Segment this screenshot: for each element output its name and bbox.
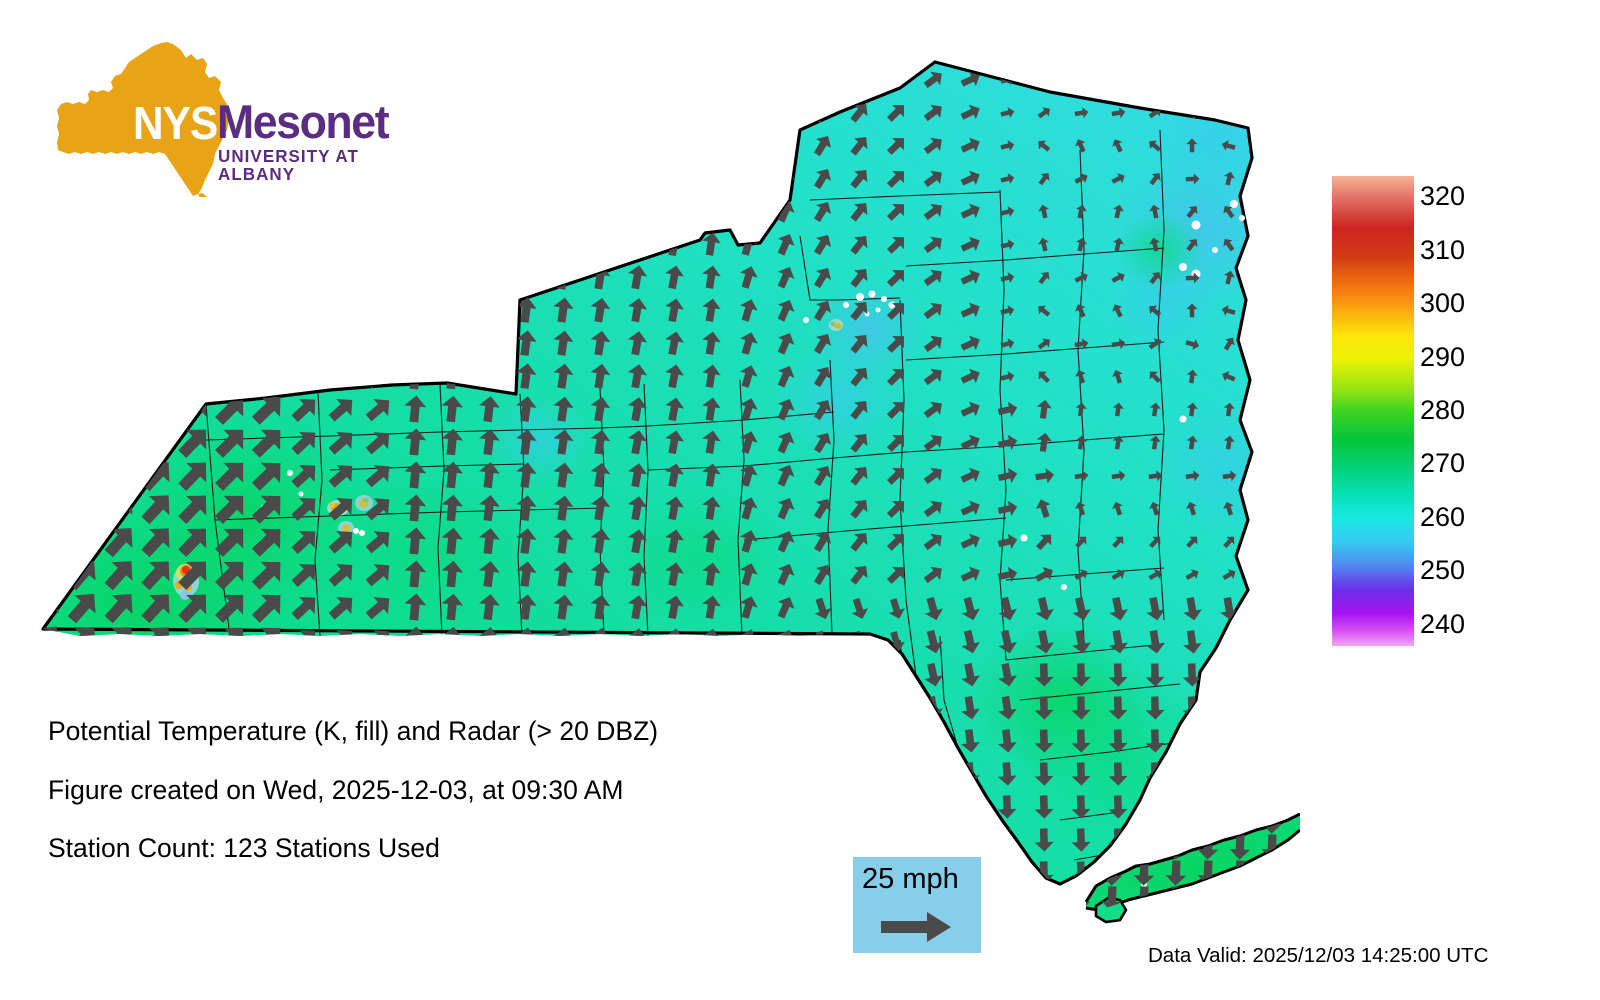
wind-arrow — [1258, 203, 1275, 220]
wind-arrow — [246, 222, 290, 266]
wind-arrow — [98, 321, 142, 365]
wind-arrow — [24, 288, 67, 332]
wind-arrow — [1260, 402, 1273, 417]
wind-arrow — [1182, 762, 1202, 786]
wind-arrow — [61, 90, 104, 134]
wind-arrow — [361, 95, 396, 129]
wind-arrow — [246, 288, 290, 332]
wind-arrow — [1258, 105, 1276, 122]
wind-arrow — [135, 57, 179, 101]
wind-arrow — [24, 552, 67, 596]
wind-arrow — [61, 354, 104, 398]
wind-arrow — [551, 131, 575, 158]
wind-arrow — [1219, 696, 1239, 720]
wind-arrow — [886, 696, 906, 719]
wind-arrow — [477, 659, 501, 687]
caption-station-count: Station Count: 123 Stations Used — [48, 835, 868, 862]
wind-arrow — [1258, 500, 1273, 516]
wind-arrow — [324, 326, 360, 361]
wind-arrow — [1220, 72, 1237, 88]
wind-arrow — [246, 156, 290, 200]
wind-arrow — [1258, 71, 1274, 88]
colorbar-gradient — [1332, 176, 1414, 646]
caption-created: Figure created on Wed, 2025-12-03, at 09… — [48, 777, 868, 804]
wind-arrow — [24, 156, 67, 200]
wind-arrow — [209, 123, 253, 167]
wind-arrow — [98, 255, 142, 299]
wind-arrow — [886, 663, 907, 687]
wind-arrow — [477, 230, 501, 258]
wind-arrow — [663, 132, 686, 158]
wind-arrow — [626, 165, 649, 192]
wind-arrow — [24, 321, 67, 365]
wind-arrow — [24, 57, 67, 101]
wind-arrow — [1069, 912, 1091, 938]
wind-arrow — [135, 189, 179, 233]
wind-arrow — [773, 131, 798, 158]
wind-arrow — [551, 197, 575, 224]
wind-arrow — [1258, 533, 1275, 551]
wind-arrow — [1261, 912, 1283, 938]
wind-arrow — [24, 90, 67, 134]
wind-arrow — [1256, 729, 1276, 753]
wind-arrow — [440, 659, 464, 687]
wind-arrow — [287, 325, 323, 361]
wind-arrow — [1256, 795, 1276, 819]
wind-arrow — [1182, 795, 1202, 819]
wind-arrow — [1219, 729, 1239, 753]
wind-arrow — [61, 123, 104, 167]
wind-arrow — [98, 651, 142, 695]
wind-arrow — [324, 260, 360, 295]
wind-arrow — [135, 123, 179, 167]
wind-arrow — [324, 161, 360, 196]
wind-arrow — [24, 420, 67, 464]
wind-arrow — [361, 293, 396, 327]
wind-arrow — [324, 128, 360, 163]
wind-arrow — [1073, 71, 1088, 87]
wind-arrow — [287, 358, 323, 394]
wind-arrow — [24, 519, 67, 563]
wind-arrow — [773, 692, 798, 719]
wind-arrow — [1165, 808, 1187, 834]
wind-arrow — [1261, 860, 1283, 886]
wind-arrow — [361, 260, 396, 294]
wind-arrow — [514, 263, 538, 291]
wind-arrow — [1197, 912, 1219, 938]
wind-arrow — [287, 61, 323, 97]
wind-arrow — [588, 230, 611, 257]
wind-arrow — [324, 62, 360, 97]
wind-arrow — [700, 99, 722, 125]
wind-key-arrow-icon — [881, 911, 953, 943]
wind-arrow — [24, 123, 67, 167]
wind-arrow — [209, 57, 253, 101]
colorbar-tick-300: 300 — [1420, 290, 1465, 317]
wind-arrow — [403, 196, 427, 225]
wind-arrow — [923, 828, 943, 852]
wind-arrow — [440, 98, 464, 126]
wind-arrow — [551, 164, 575, 191]
wind-arrow — [24, 453, 67, 497]
wind-arrow — [361, 656, 396, 690]
wind-arrow — [24, 354, 67, 398]
wind-arrow — [923, 795, 943, 819]
wind-arrow — [287, 94, 323, 130]
wind-arrow — [1133, 912, 1155, 938]
wind-arrow — [1219, 762, 1239, 786]
wind-arrow — [209, 90, 253, 134]
wind-arrow — [551, 659, 575, 686]
wind-speed-legend: 25 mph — [853, 857, 981, 953]
wind-arrow — [98, 420, 142, 464]
wind-arrow — [588, 659, 611, 686]
wind-arrow — [61, 222, 104, 266]
wind-arrow — [172, 288, 216, 332]
wind-arrow — [324, 656, 360, 691]
wind-arrow — [61, 255, 104, 299]
colorbar-tick-240: 240 — [1420, 611, 1465, 638]
wind-arrow — [626, 132, 649, 159]
wind-arrow — [172, 651, 216, 695]
wind-arrow — [700, 660, 722, 686]
wind-arrow — [209, 255, 253, 299]
colorbar-tick-310: 310 — [1420, 237, 1465, 264]
wind-arrow — [98, 156, 142, 200]
wind-arrow — [403, 97, 427, 126]
wind-arrow — [135, 321, 179, 365]
wind-arrow — [209, 222, 253, 266]
wind-arrow — [246, 255, 290, 299]
wind-arrow — [440, 230, 464, 258]
wind-arrow — [887, 796, 905, 818]
wind-arrow — [1261, 886, 1283, 912]
wind-arrow — [246, 57, 290, 101]
wind-arrow — [98, 288, 142, 332]
wind-arrow — [61, 57, 104, 101]
wind-arrow — [1186, 72, 1199, 87]
wind-arrow — [172, 222, 216, 266]
wind-arrow — [626, 99, 649, 126]
wind-arrow — [98, 57, 142, 101]
wind-arrow — [135, 651, 179, 695]
wind-arrow — [98, 222, 142, 266]
wind-arrow — [700, 66, 722, 92]
wind-arrow — [887, 829, 905, 850]
data-valid-timestamp: Data Valid: 2025/12/03 14:25:00 UTC — [1148, 946, 1488, 967]
wind-arrow — [1260, 435, 1273, 450]
wind-arrow — [172, 156, 216, 200]
wind-arrow — [440, 164, 464, 192]
wind-arrow — [1229, 808, 1251, 834]
wind-arrow — [1258, 336, 1276, 353]
wind-arrow — [1146, 71, 1163, 89]
wind-arrow — [1035, 71, 1053, 89]
wind-arrow — [98, 354, 142, 398]
wind-arrow — [626, 231, 649, 258]
wind-arrow — [403, 658, 427, 687]
colorbar-tick-labels: 320310300290280270260250240 — [1420, 176, 1560, 646]
wind-arrow — [246, 90, 290, 134]
wind-arrow — [403, 229, 427, 258]
wind-arrow — [1258, 236, 1275, 253]
wind-arrow — [24, 651, 67, 695]
wind-arrow — [886, 729, 906, 752]
wind-arrow — [477, 98, 501, 126]
wind-arrow — [61, 288, 104, 332]
wind-arrow — [736, 165, 760, 192]
wind-arrow — [1258, 566, 1275, 582]
wind-arrow — [848, 663, 870, 687]
wind-arrow — [287, 160, 323, 196]
wind-arrow — [811, 696, 833, 721]
wind-arrow — [135, 387, 179, 431]
wind-arrow — [1182, 729, 1202, 753]
wind-arrow — [135, 90, 179, 134]
wind-arrow — [361, 194, 396, 228]
wind-arrow — [209, 156, 253, 200]
wind-arrow — [172, 90, 216, 134]
wind-arrow — [700, 132, 722, 158]
wind-arrow — [477, 263, 501, 291]
wind-arrow — [98, 123, 142, 167]
wind-arrow — [1259, 302, 1274, 319]
wind-arrow — [1197, 808, 1219, 834]
wind-arrow — [626, 660, 649, 687]
wind-arrow — [773, 65, 798, 92]
wind-arrow — [663, 165, 686, 191]
wind-arrow — [663, 198, 686, 224]
wind-arrow — [514, 197, 538, 225]
wind-arrow — [287, 259, 323, 295]
wind-arrow — [61, 651, 104, 695]
wind-arrow — [1221, 104, 1238, 121]
wind-arrow — [1165, 912, 1187, 938]
wind-arrow — [1133, 808, 1155, 834]
wind-arrow — [24, 255, 67, 299]
wind-arrow — [440, 131, 464, 159]
wind-arrow — [588, 164, 611, 191]
wind-arrow — [98, 453, 142, 497]
wind-arrow — [324, 227, 360, 262]
wind-arrow — [887, 763, 906, 785]
wind-arrow — [1256, 762, 1276, 786]
wind-arrow — [663, 66, 686, 92]
wind-arrow — [1255, 596, 1277, 622]
wind-arrow — [287, 292, 323, 328]
colorbar-tick-280: 280 — [1420, 397, 1465, 424]
wind-arrow — [403, 64, 427, 93]
wind-arrow — [811, 662, 833, 687]
wind-arrow — [588, 197, 611, 224]
wind-arrow — [809, 65, 835, 92]
wind-arrow — [736, 198, 760, 225]
wind-arrow — [514, 164, 538, 192]
wind-arrow — [24, 222, 67, 266]
wind-arrow — [514, 98, 538, 126]
wind-arrow — [551, 98, 575, 125]
wind-arrow — [172, 189, 216, 233]
wind-arrow — [98, 387, 142, 431]
wind-arrow — [135, 255, 179, 299]
colorbar-tick-290: 290 — [1420, 344, 1465, 371]
wind-arrow — [588, 131, 611, 158]
wind-arrow — [135, 222, 179, 266]
wind-key-label: 25 mph — [862, 865, 959, 894]
wind-arrow — [246, 354, 290, 398]
wind-arrow — [477, 362, 501, 390]
wind-arrow — [287, 655, 323, 691]
wind-arrow — [736, 99, 760, 126]
wind-arrow — [209, 651, 253, 695]
wind-arrow — [209, 321, 253, 365]
caption-title: Potential Temperature (K, fill) and Rada… — [48, 718, 868, 745]
wind-arrow — [403, 163, 427, 192]
wind-arrow — [361, 161, 396, 195]
wind-arrow — [440, 329, 464, 357]
wind-arrow — [514, 230, 538, 258]
colorbar-tick-320: 320 — [1420, 183, 1465, 210]
wind-arrow — [440, 296, 464, 324]
wind-arrow — [209, 288, 253, 332]
wind-arrow — [1229, 912, 1251, 938]
wind-arrow — [477, 197, 501, 225]
wind-arrow — [61, 453, 104, 497]
wind-arrow — [209, 189, 253, 233]
wind-arrow — [997, 861, 1017, 885]
wind-arrow — [514, 131, 538, 159]
wind-arrow — [477, 164, 501, 192]
wind-arrow — [246, 189, 290, 233]
wind-arrow — [736, 693, 760, 720]
wind-arrow — [98, 90, 142, 134]
wind-arrow — [700, 165, 722, 191]
wind-arrow — [61, 321, 104, 365]
wind-arrow — [24, 189, 67, 233]
wind-arrow — [1258, 172, 1275, 187]
wind-arrow — [403, 328, 427, 357]
wind-arrow — [61, 486, 104, 530]
wind-arrow — [361, 62, 396, 96]
wind-arrow — [1255, 629, 1276, 654]
wind-arrow — [588, 98, 611, 125]
wind-arrow — [1197, 886, 1219, 912]
wind-arrow — [403, 262, 427, 291]
wind-arrow — [361, 128, 396, 162]
colorbar-tick-270: 270 — [1420, 450, 1465, 477]
wind-arrow — [1259, 469, 1274, 482]
wind-arrow — [287, 127, 323, 163]
wind-arrow — [773, 659, 798, 686]
wind-arrow — [324, 293, 360, 328]
wind-arrow — [61, 420, 104, 464]
wind-arrow — [663, 693, 686, 719]
wind-arrow — [172, 57, 216, 101]
wind-arrow — [24, 387, 67, 431]
wind-arrow — [846, 66, 873, 93]
wind-arrow — [588, 65, 611, 92]
wind-arrow — [98, 189, 142, 233]
wind-arrow — [1256, 696, 1276, 720]
wind-arrow — [849, 696, 870, 720]
wind-arrow — [1219, 663, 1239, 687]
wind-arrow — [960, 795, 980, 819]
wind-arrow — [551, 230, 575, 257]
wind-arrow — [923, 762, 944, 787]
colorbar-tick-250: 250 — [1420, 557, 1465, 584]
wind-arrow — [736, 132, 760, 159]
wind-arrow — [960, 828, 979, 851]
wind-arrow — [514, 659, 538, 687]
wind-arrow — [1259, 137, 1274, 154]
wind-arrow — [440, 197, 464, 225]
wind-arrow — [700, 198, 722, 224]
wind-arrow — [626, 66, 649, 93]
wind-arrow — [736, 660, 760, 687]
wind-arrow — [736, 66, 760, 93]
wind-arrow — [663, 660, 686, 686]
wind-arrow — [663, 99, 686, 125]
wind-arrow — [440, 65, 464, 93]
wind-arrow — [1229, 886, 1251, 912]
wind-arrow — [626, 198, 649, 225]
wind-arrow — [403, 130, 427, 159]
wind-arrow — [1258, 368, 1274, 385]
figure-caption: Potential Temperature (K, fill) and Rada… — [48, 718, 868, 894]
wind-arrow — [135, 156, 179, 200]
wind-arrow — [477, 65, 501, 93]
wind-arrow — [135, 288, 179, 332]
wind-arrow — [172, 354, 216, 398]
wind-arrow — [61, 387, 104, 431]
wind-arrow — [1256, 861, 1276, 885]
wind-arrow — [172, 123, 216, 167]
wind-arrow — [700, 693, 722, 719]
wind-arrow — [440, 263, 464, 291]
wind-arrow — [172, 321, 216, 365]
wind-arrow — [135, 354, 179, 398]
wind-arrow — [477, 329, 501, 357]
wind-arrow — [209, 354, 253, 398]
wind-arrow — [361, 326, 396, 360]
wind-arrow — [287, 193, 323, 229]
wind-arrow — [1258, 271, 1275, 286]
wind-arrow — [324, 194, 360, 229]
wind-arrow — [1110, 71, 1125, 87]
wind-arrow — [246, 321, 290, 365]
wind-arrow — [1145, 828, 1165, 852]
wind-arrow — [514, 65, 538, 93]
wind-arrow — [246, 651, 290, 695]
wind-arrow — [324, 95, 360, 130]
wind-arrow — [172, 255, 216, 299]
wind-arrow — [922, 728, 944, 754]
temperature-colorbar: 320310300290280270260250240 — [1310, 176, 1570, 651]
wind-arrow — [61, 156, 104, 200]
wind-arrow — [24, 486, 67, 530]
wind-arrow — [246, 123, 290, 167]
wind-arrow — [361, 227, 396, 261]
wind-arrow — [477, 296, 501, 324]
wind-arrow — [551, 65, 575, 92]
wind-arrow — [1145, 795, 1165, 819]
wind-arrow — [477, 131, 501, 159]
wind-arrow — [61, 189, 104, 233]
wind-arrow — [773, 98, 798, 125]
wind-arrow — [287, 226, 323, 262]
colorbar-tick-260: 260 — [1420, 504, 1465, 531]
wind-arrow — [1256, 663, 1276, 687]
